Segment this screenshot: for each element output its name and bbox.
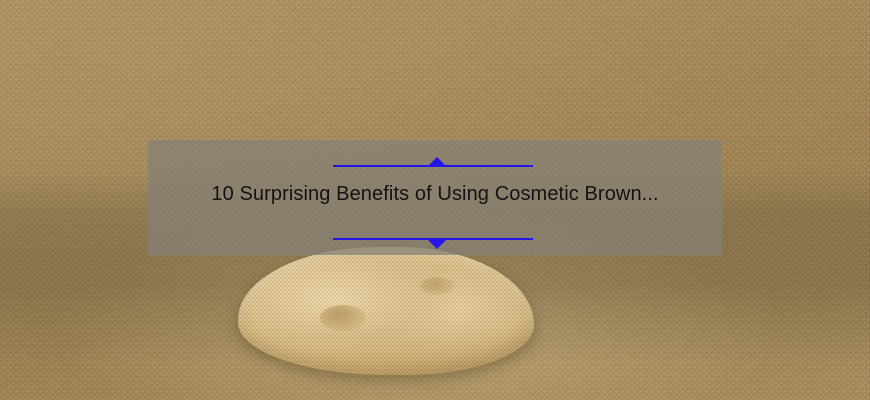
- page-title: 10 Surprising Benefits of Using Cosmetic…: [148, 183, 722, 206]
- screenshot-stage: 10 Surprising Benefits of Using Cosmetic…: [0, 0, 870, 400]
- sand-stone-formation: [238, 247, 534, 375]
- triangle-down-icon[interactable]: [428, 240, 446, 249]
- stone-pit-mark: [320, 305, 366, 331]
- triangle-up-icon[interactable]: [428, 157, 446, 166]
- stone-grain-texture: [238, 247, 534, 375]
- stone-pit-mark-secondary: [420, 277, 454, 295]
